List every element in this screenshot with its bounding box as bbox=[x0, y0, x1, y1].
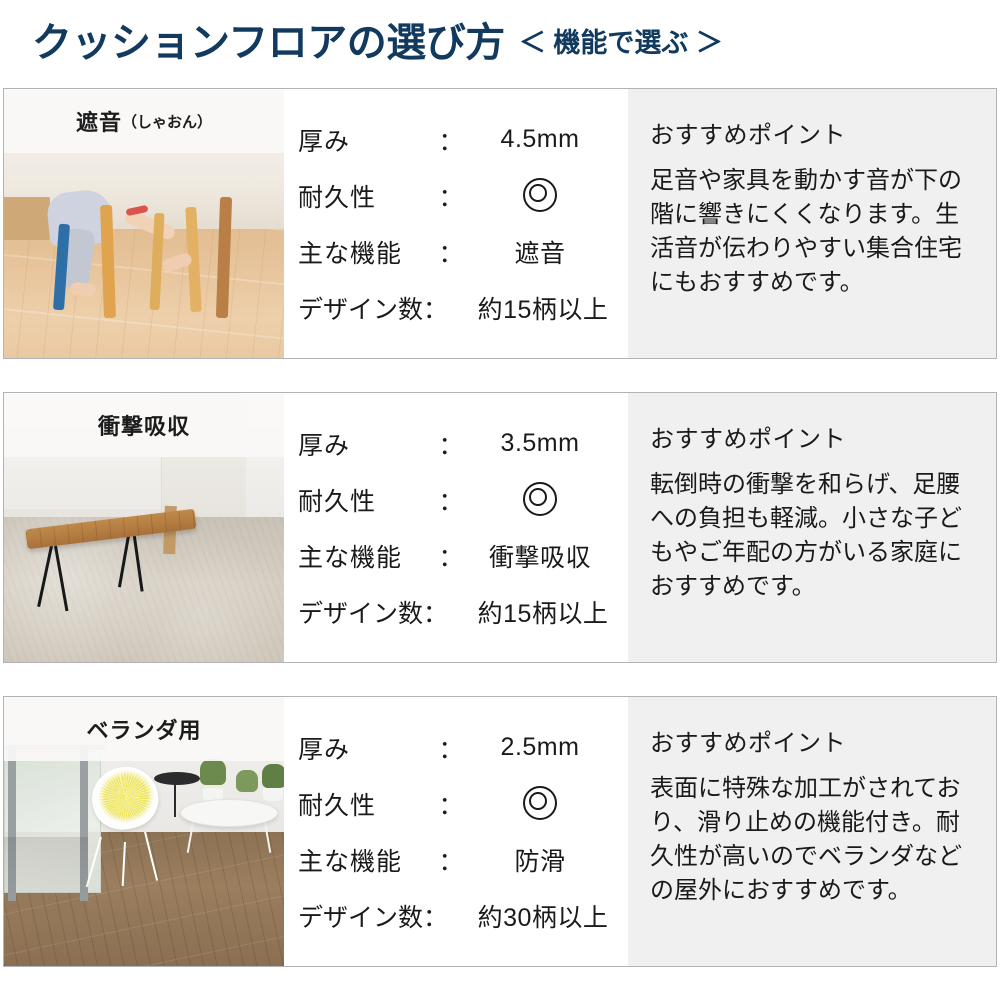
spec-label-durability: 耐久性 bbox=[298, 178, 434, 214]
spec-table: 厚み ： 2.5mm 耐久性 ： 主な機能 ： 防滑 デザイン数： 約30柄以上 bbox=[284, 697, 628, 966]
page-subtitle: ＜ 機能で選ぶ ＞ bbox=[519, 30, 723, 57]
recommendation-heading: おすすめポイント bbox=[650, 115, 978, 150]
spec-value-function: 衝撃吸収 bbox=[468, 538, 612, 574]
spec-value-durability bbox=[468, 178, 612, 213]
product-photo-shock-absorbing: 衝撃吸収 bbox=[4, 393, 284, 662]
spec-label-thickness: 厚み bbox=[298, 730, 434, 766]
photo-label-text: ベランダ用 bbox=[86, 713, 201, 745]
spec-row-thickness: 厚み ： 2.5mm bbox=[298, 720, 612, 776]
photo-label-badge: 遮音 （しゃおん） bbox=[4, 89, 284, 153]
spec-colon: ： bbox=[434, 786, 468, 822]
spec-row-durability: 耐久性 ： bbox=[298, 168, 612, 224]
spec-row-designs: デザイン数： 約30柄以上 bbox=[298, 888, 612, 944]
spec-value-thickness: 3.5mm bbox=[468, 429, 612, 458]
recommendation-panel: おすすめポイント 転倒時の衝撃を和らげ、足腰への負担も軽減。小さな子どもやご年配… bbox=[628, 393, 996, 662]
spec-label-designs: デザイン数： bbox=[298, 898, 474, 934]
spec-value-durability bbox=[468, 482, 612, 517]
spec-colon: ： bbox=[434, 842, 468, 878]
double-circle-icon bbox=[523, 786, 557, 820]
spec-label-designs: デザイン数： bbox=[298, 594, 474, 630]
spec-label-function: 主な機能 bbox=[298, 538, 434, 574]
product-card: ベランダ用 厚み ： 2.5mm 耐久性 ： 主な機能 ： 防滑 デザイン数： bbox=[3, 696, 997, 967]
recommendation-panel: おすすめポイント 表面に特殊な加工がされており、滑り止めの機能付き。耐久性が高い… bbox=[628, 697, 996, 966]
spec-value-function: 防滑 bbox=[468, 842, 612, 878]
photo-label-badge: 衝撃吸収 bbox=[4, 393, 284, 457]
infographic-page: クッションフロアの選び方 ＜ 機能で選ぶ ＞ 遮音 （しゃおん） bbox=[0, 0, 1000, 1000]
photo-label-text: 衝撃吸収 bbox=[98, 409, 190, 441]
spec-label-designs: デザイン数： bbox=[298, 290, 474, 326]
double-circle-icon bbox=[523, 178, 557, 212]
photo-label-badge: ベランダ用 bbox=[4, 697, 284, 761]
spec-row-function: 主な機能 ： 防滑 bbox=[298, 832, 612, 888]
recommendation-panel: おすすめポイント 足音や家具を動かす音が下の階に響きにくくなります。生活音が伝わ… bbox=[628, 89, 996, 358]
spec-row-thickness: 厚み ： 3.5mm bbox=[298, 416, 612, 472]
product-card: 遮音 （しゃおん） 厚み ： 4.5mm 耐久性 ： 主な機能 ： 遮音 デザイ… bbox=[3, 88, 997, 359]
spec-row-durability: 耐久性 ： bbox=[298, 776, 612, 832]
spec-value-function: 遮音 bbox=[468, 234, 612, 270]
photo-label-text: 遮音 bbox=[76, 105, 122, 137]
spec-colon: ： bbox=[434, 122, 468, 158]
recommendation-body: 足音や家具を動かす音が下の階に響きにくくなります。生活音が伝わりやすい集合住宅に… bbox=[650, 164, 978, 300]
spec-value-designs: 約15柄以上 bbox=[474, 290, 612, 326]
spec-colon: ： bbox=[434, 426, 468, 462]
recommendation-heading: おすすめポイント bbox=[650, 419, 978, 454]
recommendation-body: 表面に特殊な加工がされており、滑り止めの機能付き。耐久性が高いのでベランダなどの… bbox=[650, 772, 978, 908]
spec-row-function: 主な機能 ： 遮音 bbox=[298, 224, 612, 280]
spec-value-durability bbox=[468, 786, 612, 821]
spec-row-thickness: 厚み ： 4.5mm bbox=[298, 112, 612, 168]
spec-value-designs: 約30柄以上 bbox=[474, 898, 612, 934]
page-title: クッションフロアの選び方 bbox=[32, 23, 505, 63]
spec-row-durability: 耐久性 ： bbox=[298, 472, 612, 528]
spec-row-designs: デザイン数： 約15柄以上 bbox=[298, 280, 612, 336]
page-header: クッションフロアの選び方 ＜ 機能で選ぶ ＞ bbox=[0, 0, 1000, 86]
product-card: 衝撃吸収 厚み ： 3.5mm 耐久性 ： 主な機能 ： 衝撃吸収 デザイン数： bbox=[3, 392, 997, 663]
double-circle-icon bbox=[523, 482, 557, 516]
spec-label-function: 主な機能 bbox=[298, 842, 434, 878]
spec-label-thickness: 厚み bbox=[298, 426, 434, 462]
spec-colon: ： bbox=[434, 178, 468, 214]
spec-label-thickness: 厚み bbox=[298, 122, 434, 158]
recommendation-heading: おすすめポイント bbox=[650, 723, 978, 758]
spec-colon: ： bbox=[434, 234, 468, 270]
product-photo-balcony: ベランダ用 bbox=[4, 697, 284, 966]
product-photo-soundproof: 遮音 （しゃおん） bbox=[4, 89, 284, 358]
photo-label-ruby: （しゃおん） bbox=[122, 111, 212, 132]
spec-colon: ： bbox=[434, 482, 468, 518]
spec-value-thickness: 4.5mm bbox=[468, 125, 612, 154]
spec-label-durability: 耐久性 bbox=[298, 786, 434, 822]
spec-table: 厚み ： 3.5mm 耐久性 ： 主な機能 ： 衝撃吸収 デザイン数： 約15柄… bbox=[284, 393, 628, 662]
recommendation-body: 転倒時の衝撃を和らげ、足腰への負担も軽減。小さな子どもやご年配の方がいる家庭にお… bbox=[650, 468, 978, 604]
spec-table: 厚み ： 4.5mm 耐久性 ： 主な機能 ： 遮音 デザイン数： 約15柄以上 bbox=[284, 89, 628, 358]
spec-row-designs: デザイン数： 約15柄以上 bbox=[298, 584, 612, 640]
spec-colon: ： bbox=[434, 538, 468, 574]
spec-row-function: 主な機能 ： 衝撃吸収 bbox=[298, 528, 612, 584]
spec-colon: ： bbox=[434, 730, 468, 766]
spec-label-durability: 耐久性 bbox=[298, 482, 434, 518]
spec-value-designs: 約15柄以上 bbox=[474, 594, 612, 630]
spec-value-thickness: 2.5mm bbox=[468, 733, 612, 762]
spec-label-function: 主な機能 bbox=[298, 234, 434, 270]
